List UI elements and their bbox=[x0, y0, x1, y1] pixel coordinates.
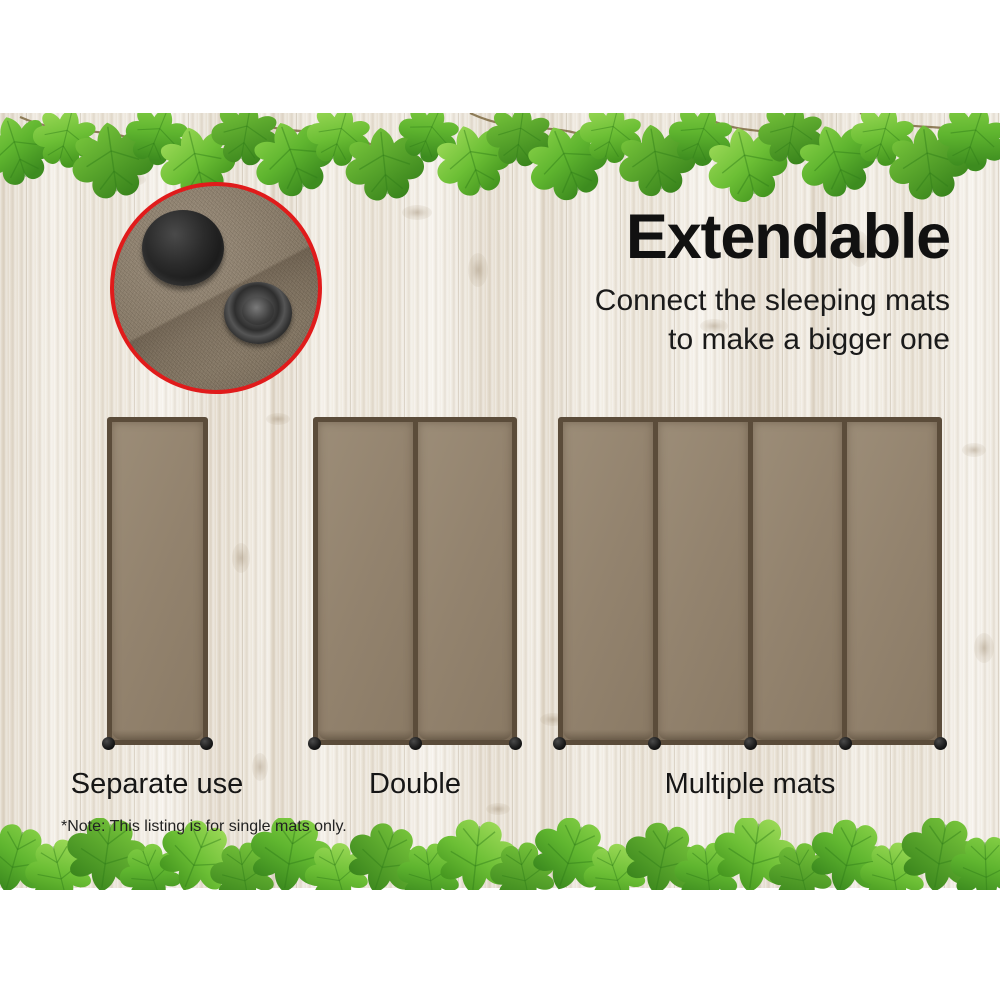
snap-dot bbox=[409, 737, 422, 750]
wood-knot bbox=[232, 543, 250, 573]
footnote: *Note: This listing is for single mats o… bbox=[61, 818, 347, 836]
male-snap-stud-icon bbox=[142, 210, 224, 286]
label-double: Double bbox=[315, 768, 515, 801]
snap-dot bbox=[102, 737, 115, 750]
snap-dot bbox=[509, 737, 522, 750]
snap-dot bbox=[934, 737, 947, 750]
wood-knot bbox=[486, 803, 510, 815]
mat-group-multiple[interactable] bbox=[558, 417, 942, 745]
snap-dot bbox=[744, 737, 757, 750]
snap-dot bbox=[553, 737, 566, 750]
snap-dot bbox=[200, 737, 213, 750]
snap-dot bbox=[839, 737, 852, 750]
mat bbox=[413, 417, 518, 745]
mat bbox=[748, 417, 848, 745]
mat bbox=[653, 417, 753, 745]
headline-block: Extendable Connect the sleeping mats to … bbox=[410, 205, 950, 359]
wood-knot bbox=[974, 633, 994, 663]
mat bbox=[558, 417, 658, 745]
label-multiple-mats: Multiple mats bbox=[650, 768, 850, 801]
mat-group-separate[interactable] bbox=[107, 417, 208, 745]
label-separate-use: Separate use bbox=[57, 768, 257, 801]
infographic-canvas: Extendable Connect the sleeping mats to … bbox=[0, 0, 1000, 1000]
mat-group-double[interactable] bbox=[313, 417, 517, 745]
subtitle-line-1: Connect the sleeping mats bbox=[410, 281, 950, 320]
page-title: Extendable bbox=[410, 205, 950, 269]
subtitle: Connect the sleeping mats to make a bigg… bbox=[410, 281, 950, 359]
female-snap-socket-icon bbox=[224, 282, 292, 344]
snap-dot bbox=[308, 737, 321, 750]
subtitle-line-2: to make a bigger one bbox=[410, 320, 950, 359]
mat bbox=[842, 417, 942, 745]
wood-knot bbox=[120, 173, 146, 186]
snap-fastener-closeup[interactable] bbox=[110, 182, 322, 394]
wood-knot bbox=[962, 443, 986, 457]
wood-knot bbox=[266, 413, 290, 425]
mat bbox=[107, 417, 208, 745]
mat bbox=[313, 417, 418, 745]
